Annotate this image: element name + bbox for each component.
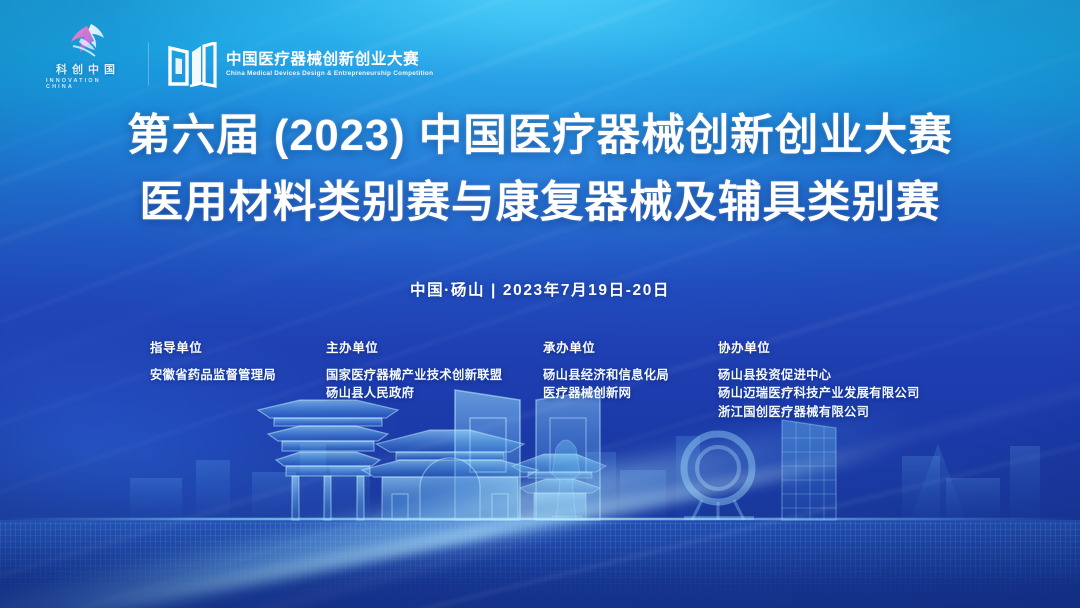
left-glow (0, 0, 1080, 608)
logo-bar: 科创中国 INNOVATION CHINA 中国医疗器械创新创业大赛 China… (46, 22, 433, 90)
organizer-section: 指导单位 安徽省药品监督管理局 主办单位 国家医疗器械产业技术创新联盟 砀山县人… (0, 342, 1080, 452)
innovation-china-bird-icon (57, 22, 119, 62)
organizer-column-organizer: 承办单位 砀山县经济和信息化局 医疗器械创新网 (543, 342, 669, 403)
open-door-icon (167, 42, 217, 90)
pyramid-building (910, 444, 966, 520)
title-line-2: 医用材料类别赛与康复器械及辅具类别赛 (0, 175, 1080, 232)
organizer-item: 砀山县投资促进中心 (718, 366, 920, 385)
organizer-item: 砀山县经济和信息化局 (543, 366, 669, 385)
competition-logo: 中国医疗器械创新创业大赛 China Medical Devices Desig… (167, 42, 433, 90)
organizer-column-guidance: 指导单位 安徽省药品监督管理局 (150, 342, 276, 384)
organizer-column-coorganizer: 协办单位 砀山县投资促进中心 砀山迈瑞医疗科技产业发展有限公司 浙江国创医疗器械… (718, 342, 920, 421)
light-streaks (0, 0, 1080, 608)
innovation-china-en: INNOVATION CHINA (46, 79, 130, 90)
ground-grid (0, 522, 1080, 608)
organizer-heading: 主办单位 (326, 342, 502, 355)
page-title: 第六届 (2023) 中国医疗器械创新创业大赛 医用材料类别赛与康复器械及辅具类… (0, 108, 1080, 231)
top-glow (0, 0, 1080, 608)
side-pavilion (512, 454, 606, 520)
innovation-china-cn: 科创中国 (56, 65, 120, 76)
logo-divider (148, 42, 149, 86)
light-beam-thin (50, 443, 901, 608)
organizer-item: 浙江国创医疗器械有限公司 (718, 403, 920, 422)
organizer-heading: 协办单位 (718, 342, 920, 355)
event-poster: 科创中国 INNOVATION CHINA 中国医疗器械创新创业大赛 China… (0, 0, 1080, 608)
horizon-line (0, 518, 1080, 520)
statue (552, 440, 582, 520)
competition-logo-en: China Medical Devices Design & Entrepren… (226, 71, 433, 77)
event-meta: 中国·砀山 | 2023年7月19日-20日 (0, 278, 1080, 300)
vignette (0, 0, 1080, 608)
location-date: 中国·砀山 | 2023年7月19日-20日 (410, 278, 670, 300)
mid-glow (0, 0, 1080, 608)
organizer-heading: 指导单位 (150, 342, 276, 355)
organizer-item: 砀山迈瑞医疗科技产业发展有限公司 (718, 384, 920, 403)
organizer-item: 砀山县人民政府 (326, 384, 502, 403)
ground-reflection (0, 520, 1080, 608)
title-line-1: 第六届 (2023) 中国医疗器械创新创业大赛 (0, 108, 1080, 165)
organizer-item: 安徽省药品监督管理局 (150, 366, 276, 385)
innovation-china-logo: 科创中国 INNOVATION CHINA (46, 22, 130, 90)
competition-logo-cn: 中国医疗器械创新创业大赛 (226, 52, 433, 68)
organizer-column-host: 主办单位 国家医疗器械产业技术创新联盟 砀山县人民政府 (326, 342, 502, 403)
organizer-item: 国家医疗器械产业技术创新联盟 (326, 366, 502, 385)
organizer-heading: 承办单位 (543, 342, 669, 355)
organizer-item: 医疗器械创新网 (543, 384, 669, 403)
